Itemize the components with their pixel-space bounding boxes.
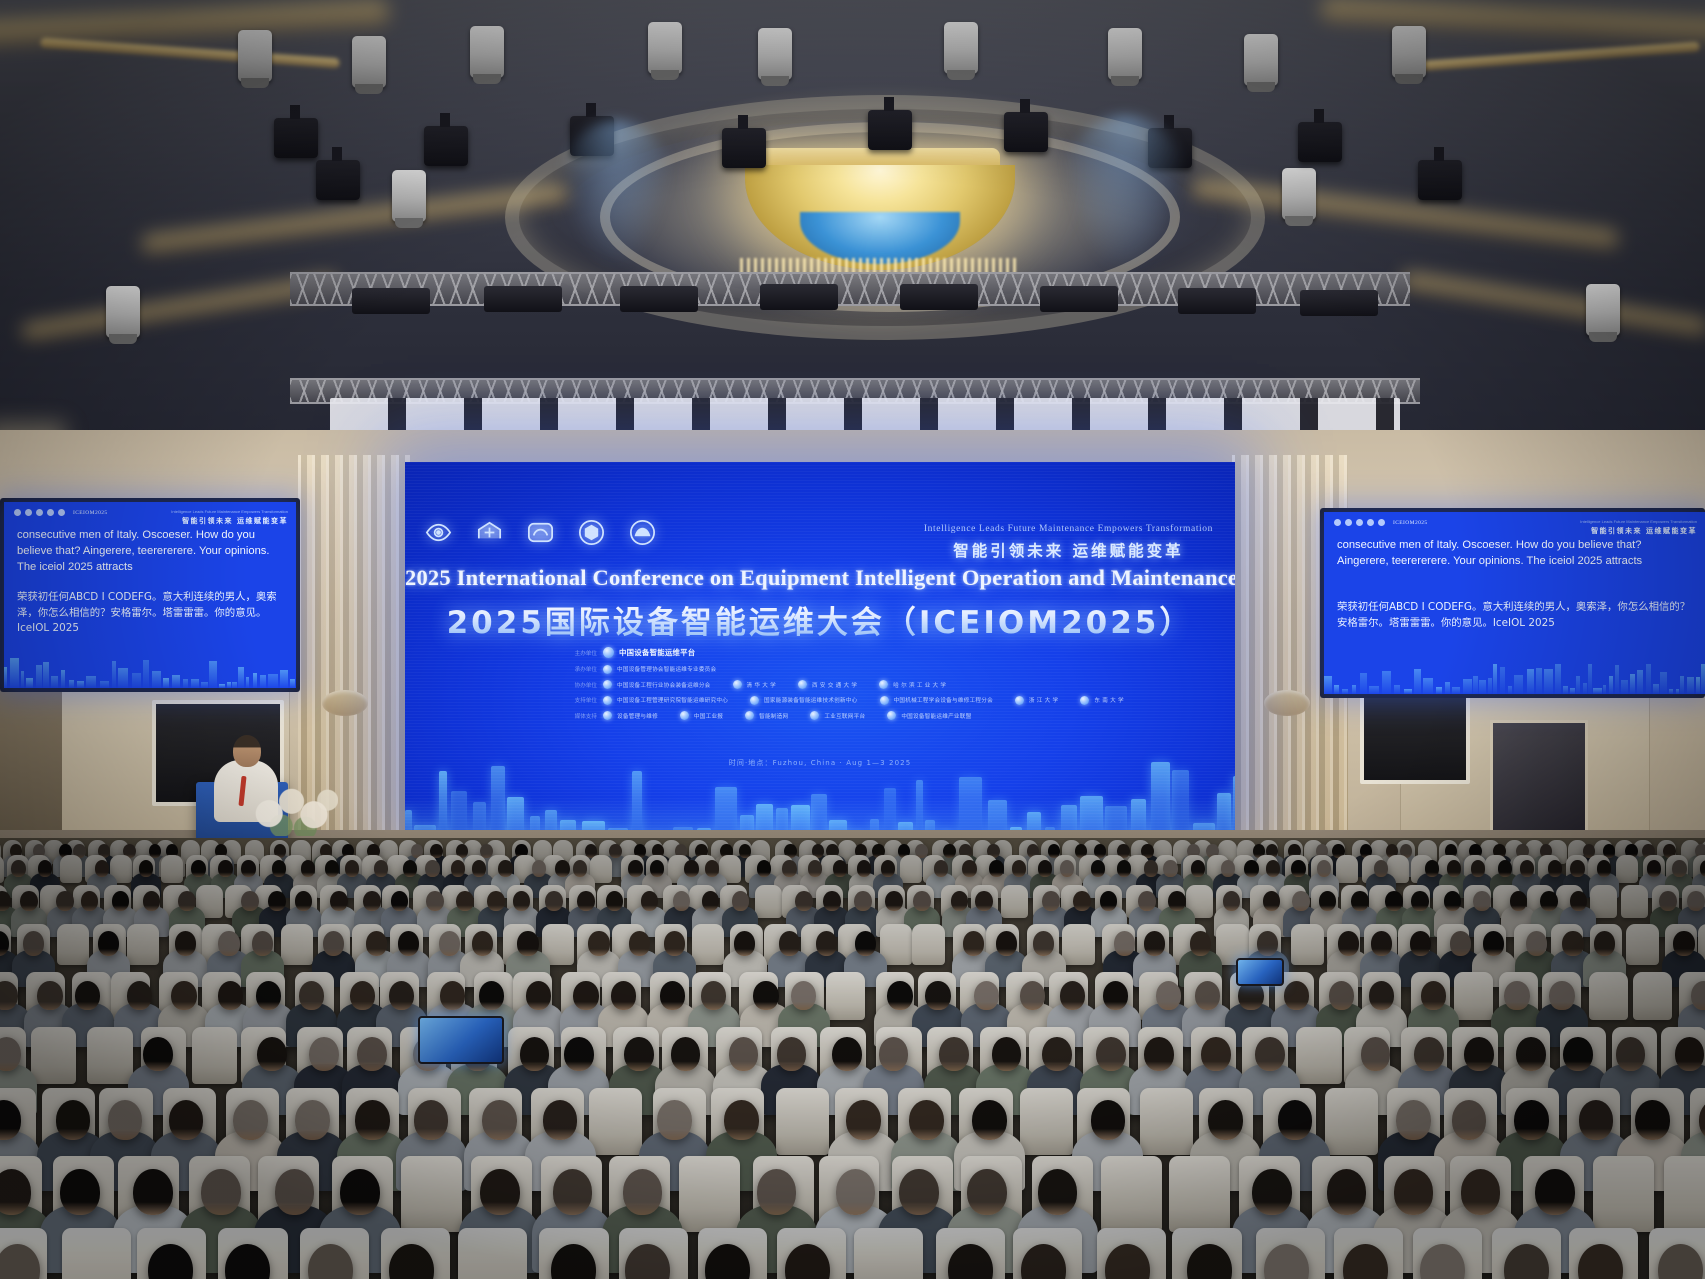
- audience-member-head: [1483, 931, 1504, 955]
- audience-member-head: [629, 931, 650, 955]
- skyline-building: [290, 679, 295, 688]
- organizer-list: 主办单位中国设备智能运维平台承办单位中国设备管理协会智能运维专业委员会协办单位中…: [525, 647, 1125, 727]
- audience-member-head: [1319, 891, 1336, 911]
- audience-member-head: [60, 1169, 100, 1215]
- side-screen-tagline: Intelligence Leads Future Maintenance Em…: [171, 509, 288, 526]
- side-screen-icons: ICEIOM2025: [1334, 519, 1428, 526]
- audience-member-head: [513, 891, 530, 911]
- skyline-building: [1414, 669, 1421, 694]
- audience-member-head: [1514, 1100, 1549, 1140]
- audience-member-head: [1535, 1169, 1575, 1215]
- ceiling-downlight: [944, 22, 978, 74]
- skyline-building: [26, 678, 33, 688]
- organizer-name: 中国设备工程管理研究院智能运维研究中心: [617, 696, 728, 704]
- ceiling-downlight: [1392, 26, 1426, 78]
- tagline-chinese: 智能引领未来 运维赋能变革: [924, 539, 1213, 561]
- skyline-building: [1588, 664, 1592, 694]
- skyline-building: [201, 682, 208, 688]
- organizer-entry: 中国设备工程管理研究院智能运维研究中心: [603, 696, 728, 705]
- audience-member-head: [143, 1037, 173, 1071]
- organizer-entry: 西 安 交 通 大 学: [798, 680, 857, 689]
- audience-member-head: [1351, 891, 1368, 911]
- audience-member-head: [1570, 891, 1587, 911]
- audience-member-head: [241, 860, 255, 877]
- audience-member-head: [1103, 981, 1128, 1010]
- audience-member-head: [75, 981, 100, 1010]
- audience-chair: [1020, 1088, 1073, 1154]
- audience-member-head: [1038, 860, 1052, 877]
- audience-member-head: [1266, 860, 1280, 877]
- audience-member-head: [398, 931, 419, 955]
- audience-member-head: [660, 981, 685, 1010]
- audience-member-head: [323, 931, 344, 955]
- skyline-building: [86, 676, 96, 688]
- cove-light: [1400, 42, 1700, 73]
- org-mark-icon: [733, 680, 742, 689]
- audience-chair: [1626, 924, 1659, 965]
- audience-member-head: [487, 891, 504, 911]
- audience-member-head: [1563, 1037, 1593, 1071]
- audience-member-head: [98, 931, 119, 955]
- audience-member-head: [233, 1100, 268, 1140]
- skyline-building: [1687, 677, 1694, 694]
- skyline-building: [1394, 685, 1400, 694]
- audience-member-head: [1144, 860, 1158, 877]
- audience-member-head: [588, 931, 609, 955]
- org-mark-icon: [887, 711, 896, 720]
- shield-cloud-icon: [1378, 519, 1385, 526]
- organizer-entry: 中国机械工程学会设备与维修工程分会: [880, 696, 993, 705]
- audience-chair: [57, 924, 90, 965]
- audience-member-head: [1371, 931, 1392, 955]
- audience-member-head: [1473, 891, 1490, 911]
- light-beam: [556, 120, 676, 270]
- audience-member-head: [272, 860, 286, 877]
- audience-member-head: [1471, 860, 1485, 877]
- organizer-entry: 中国设备管理协会智能运维专业委员会: [603, 665, 716, 674]
- audience-member-head: [974, 981, 999, 1010]
- audience-member-head: [1060, 860, 1074, 877]
- audience-member-head: [426, 891, 443, 911]
- org-mark-icon: [798, 680, 807, 689]
- skyline-building: [100, 681, 109, 688]
- audience-member-head: [1659, 891, 1676, 911]
- audience-member-head: [1073, 891, 1090, 911]
- skyline-building: [1436, 687, 1442, 694]
- audience-chair: [60, 855, 82, 883]
- left-side-screen: ICEIOM2025 Intelligence Leads Future Mai…: [4, 502, 296, 688]
- audience-member-head: [795, 891, 812, 911]
- audience-member-head: [934, 860, 948, 877]
- audience-member-head: [832, 1037, 862, 1071]
- organizer-entry: 工业互联网平台: [810, 711, 865, 720]
- organizer-category-label: 主办单位: [525, 649, 597, 657]
- side-screen-header: ICEIOM2025 Intelligence Leads Future Mai…: [14, 509, 288, 526]
- side-screen-header: ICEIOM2025 Intelligence Leads Future Mai…: [1334, 519, 1697, 536]
- skyline-building: [1653, 684, 1659, 694]
- audience-member-head: [425, 860, 439, 877]
- audience-member-head: [854, 891, 871, 911]
- audience-member-head: [1414, 1037, 1444, 1071]
- organizer-row: 支持单位中国设备工程管理研究院智能运维研究中心国家能源装备智能运维技术创新中心中…: [525, 696, 1125, 705]
- audience-member-head: [20, 891, 37, 911]
- skyline-building: [1404, 689, 1412, 694]
- audience-member-head: [1675, 1037, 1705, 1071]
- target-eye-icon: [423, 517, 454, 548]
- audience-chair: [1140, 1088, 1193, 1154]
- audience-member-head: [555, 860, 569, 877]
- audience-member-head: [37, 981, 62, 1010]
- skyline-building: [1352, 685, 1356, 694]
- audience-member-head: [403, 860, 417, 877]
- audience-chair: [458, 1228, 527, 1279]
- audience-member-head: [1038, 1169, 1078, 1215]
- audience-member-head: [472, 860, 486, 877]
- audience-member-head: [169, 1100, 204, 1140]
- skyline-building: [227, 682, 231, 688]
- side-tagline-chinese: 智能引领未来 运维赋能变革: [171, 516, 288, 526]
- cloud-data-icon: [1356, 519, 1363, 526]
- audience-member-head: [1540, 891, 1557, 911]
- audience-member-head: [143, 891, 160, 911]
- audience-member-head: [363, 891, 380, 911]
- audience-member-head: [943, 844, 955, 858]
- audience-member-head: [340, 1169, 380, 1215]
- audience-member-head: [833, 860, 847, 877]
- skyline-building: [1570, 688, 1575, 694]
- audience-member-head: [1594, 931, 1615, 955]
- skyline-building: [1479, 680, 1486, 694]
- audience-member-head: [701, 981, 726, 1010]
- left-caption-chinese: 荣获初任何ABCD I CODEFG。意大利连续的男人，奥索泽，你怎么相信的？安…: [17, 590, 285, 637]
- org-mark-icon: [680, 711, 689, 720]
- skyline-building: [1646, 664, 1651, 694]
- ceiling-downlight: [238, 30, 272, 82]
- skyline-building: [1536, 668, 1542, 694]
- conference-title-english: 2025 International Conference on Equipme…: [405, 565, 1235, 591]
- skyline-building: [1660, 672, 1667, 694]
- audience-phone-screen: [418, 1016, 504, 1064]
- audience-member-head: [1374, 860, 1388, 877]
- audience-member-head: [623, 1169, 663, 1215]
- skyline-building: [1514, 675, 1523, 694]
- skyline-building: [1493, 664, 1497, 694]
- audience-member-head: [480, 1169, 520, 1215]
- audience-member-head: [257, 1037, 287, 1071]
- audience-member-head: [967, 1169, 1007, 1215]
- audience-phone-screen: [1236, 958, 1284, 986]
- audience-member-head: [673, 891, 690, 911]
- audience-chair: [1336, 855, 1358, 883]
- stage-par-light: [1004, 112, 1048, 152]
- skyline-building: [36, 665, 42, 688]
- audience-member-head: [1394, 1169, 1434, 1215]
- hexagon-core-icon: [1367, 519, 1374, 526]
- audience-member-head: [171, 981, 196, 1010]
- audience-member-head: [611, 981, 636, 1010]
- audience-member-head: [1190, 931, 1211, 955]
- audience-member-head: [456, 891, 473, 911]
- skyline-building: [1630, 674, 1635, 694]
- audience-member-head: [345, 860, 359, 877]
- skyline-building: [1463, 679, 1472, 694]
- stage-par-light: [316, 160, 360, 200]
- floral-arrangement: [252, 780, 338, 836]
- audience-member-head: [325, 860, 339, 877]
- cove-light: [40, 38, 340, 69]
- audience-member-head: [389, 981, 414, 1010]
- audience-chair: [1633, 972, 1672, 1021]
- audience-member-head: [1597, 860, 1611, 877]
- skyline-building: [69, 680, 74, 688]
- ceiling-downlight: [648, 22, 682, 74]
- skyline-building: [1324, 676, 1332, 694]
- audience-member-head: [127, 981, 152, 1010]
- city-skyline-graphic: [405, 724, 1235, 844]
- audience-member-head: [252, 931, 273, 955]
- audience-chair: [900, 855, 922, 883]
- skyline-building: [246, 677, 249, 688]
- hexagon-core-icon: [576, 517, 607, 548]
- audience-member-head: [1672, 860, 1686, 877]
- cloud-data-icon: [525, 517, 556, 548]
- audience-member-head: [133, 1169, 173, 1215]
- gear-plus-icon: [1345, 519, 1352, 526]
- audience-member-head: [1516, 1037, 1546, 1071]
- ceiling-downlight: [106, 286, 140, 338]
- audience-chair: [1291, 924, 1324, 965]
- stage-par-light: [1418, 160, 1462, 200]
- audience-member-head: [1562, 931, 1583, 955]
- audience-member-head: [201, 1169, 241, 1215]
- shield-cloud-icon: [58, 509, 65, 516]
- skyline-building: [1508, 686, 1512, 694]
- audience-chair: [281, 924, 314, 965]
- audience-member-head: [517, 931, 538, 955]
- audience-member-head: [1138, 891, 1155, 911]
- organizer-category-label: 媒体支持: [525, 712, 597, 720]
- skyline-building: [1603, 685, 1606, 694]
- audience-member-head: [573, 860, 587, 877]
- skyline-building: [163, 678, 169, 688]
- hexagon-core-icon: [47, 509, 54, 516]
- audience-member-head: [573, 981, 598, 1010]
- conference-title-chinese: 2025国际设备智能运维大会（ICEIOM2025）: [405, 597, 1235, 642]
- audience-member-head: [885, 891, 902, 911]
- organizer-name: 中国机械工程学会设备与维修工程分会: [894, 696, 993, 704]
- side-screen-icons: ICEIOM2025: [14, 509, 108, 516]
- audience-member-head: [498, 860, 512, 877]
- audience-member-head: [724, 1100, 759, 1140]
- cove-light: [1320, 0, 1705, 43]
- audience-member-head: [1635, 1100, 1670, 1140]
- organizer-category-label: 承办单位: [525, 665, 597, 673]
- ceiling-downlight: [1108, 28, 1142, 80]
- gear-plus-icon: [25, 509, 32, 516]
- audience-member-head: [1410, 931, 1431, 955]
- skyline-building: [1615, 665, 1619, 694]
- audience-member-head: [975, 891, 992, 911]
- audience-chair: [1454, 972, 1493, 1021]
- audience-member-head: [1396, 1100, 1431, 1140]
- stage-par-light: [1298, 122, 1342, 162]
- main-led-screen: Intelligence Leads Future Maintenance Em…: [405, 462, 1235, 844]
- skyline-building: [232, 682, 237, 688]
- audience-member-head: [1338, 931, 1359, 955]
- audience-member-head: [909, 1100, 944, 1140]
- audience-member-head: [1223, 891, 1240, 911]
- audience-member-head: [451, 860, 465, 877]
- skyline-building: [152, 671, 161, 688]
- skyline-building: [219, 684, 225, 688]
- audience-member-head: [705, 860, 719, 877]
- skyline-building: [1382, 671, 1391, 694]
- organizer-entry: 浙 江 大 学: [1015, 696, 1058, 705]
- audience-member-head: [178, 891, 195, 911]
- audience-member-head: [1091, 860, 1105, 877]
- audience-member-head: [1447, 860, 1461, 877]
- audience-member-head: [1156, 981, 1181, 1010]
- organizer-entry: 清 华 大 学: [733, 680, 776, 689]
- speaker-head: [233, 735, 261, 767]
- audience-chair: [692, 924, 725, 965]
- audience-member-head: [275, 1169, 315, 1215]
- audience-chair: [589, 1088, 642, 1154]
- audience-member-head: [925, 981, 950, 1010]
- audience-member-head: [939, 1037, 969, 1071]
- audience-member-head: [11, 860, 25, 877]
- stage-wash-light: [352, 288, 430, 314]
- skyline-building: [1701, 664, 1705, 694]
- skyline-building: [1334, 685, 1339, 694]
- stage-wash-light: [620, 286, 698, 312]
- audience-member-head: [1257, 931, 1278, 955]
- audience-member-head: [472, 931, 493, 955]
- audience-member-head: [350, 981, 375, 1010]
- audience-chair: [87, 1027, 133, 1084]
- audience-member-head: [1144, 1037, 1174, 1071]
- audience-member-head: [782, 860, 796, 877]
- org-mark-icon: [603, 665, 612, 674]
- skyline-building: [1609, 676, 1613, 694]
- target-eye-icon: [1334, 519, 1341, 526]
- skyline-building: [209, 661, 217, 688]
- audience-member-head: [1292, 891, 1309, 911]
- organizer-entry: 中国设备工程行业协会装备运维分会: [603, 680, 711, 689]
- skyline-building: [4, 667, 7, 688]
- skyline-building: [1676, 689, 1679, 694]
- organizer-name: 浙 江 大 学: [1029, 696, 1058, 704]
- audience-chair: [1664, 1156, 1705, 1232]
- audience-member-head: [553, 1169, 593, 1215]
- audience-member-head: [1579, 1100, 1614, 1140]
- audience-seating: [0, 838, 1705, 1279]
- organizer-row: 协办单位中国设备工程行业协会装备运维分会清 华 大 学西 安 交 通 大 学哈 …: [525, 680, 1125, 689]
- side-screen-tagline: Intelligence Leads Future Maintenance Em…: [1580, 519, 1697, 536]
- audience-member-head: [1144, 931, 1165, 955]
- audience-member-head: [256, 981, 281, 1010]
- audience-member-head: [1096, 1037, 1126, 1071]
- audience-member-head: [440, 981, 465, 1010]
- audience-member-head: [374, 860, 388, 877]
- side-tagline-english: Intelligence Leads Future Maintenance Em…: [171, 509, 288, 514]
- audience-member-head: [1444, 891, 1461, 911]
- target-eye-icon: [14, 509, 21, 516]
- audience-member-head: [1329, 981, 1354, 1010]
- audience-member-head: [1452, 1100, 1487, 1140]
- audience-member-head: [23, 931, 44, 955]
- audience-chair: [192, 1027, 238, 1084]
- stage-par-light: [274, 118, 318, 158]
- audience-chair: [401, 1156, 462, 1232]
- side-skyline-graphic: [4, 652, 296, 688]
- audience-member-head: [1114, 931, 1135, 955]
- audience-chair: [1325, 1088, 1378, 1154]
- audience-member-head: [753, 981, 778, 1010]
- organizer-name: 工业互联网平台: [824, 712, 865, 720]
- ceiling-downlight: [758, 28, 792, 80]
- audience-member-head: [899, 1169, 939, 1215]
- audience-member-head: [1255, 1037, 1285, 1071]
- audience-chair: [1616, 855, 1638, 883]
- audience-member-head: [846, 1100, 881, 1140]
- organizer-name: 哈 尔 滨 工 业 大 学: [893, 681, 946, 689]
- wall-speaker-grille: [1360, 690, 1470, 784]
- audience-chair: [854, 1228, 923, 1279]
- audience-member-head: [218, 860, 232, 877]
- audience-member-head: [606, 891, 623, 911]
- audience-chair: [826, 972, 865, 1021]
- audience-member-head: [913, 891, 930, 911]
- audience-member-head: [1673, 931, 1694, 955]
- audience-member-head: [779, 931, 800, 955]
- audience-member-head: [757, 1169, 797, 1215]
- skyline-building: [61, 670, 65, 688]
- stage-par-light: [424, 126, 468, 166]
- audience-member-head: [526, 981, 551, 1010]
- audience-member-head: [1163, 860, 1177, 877]
- audience-member-head: [1168, 891, 1185, 911]
- audience-chair: [62, 1228, 131, 1279]
- audience-member-head: [1244, 860, 1258, 877]
- ceiling-downlight: [1586, 284, 1620, 336]
- stage-wash-light: [1300, 290, 1378, 316]
- org-mark-icon: [1015, 696, 1024, 705]
- audience-member-head: [1091, 1100, 1126, 1140]
- tagline-english: Intelligence Leads Future Maintenance Em…: [924, 524, 1213, 534]
- skyline-building: [1473, 676, 1478, 694]
- audience-chair: [1169, 1156, 1230, 1232]
- skyline-building: [253, 673, 257, 688]
- audience-member-head: [836, 1169, 876, 1215]
- audience-member-head: [56, 891, 73, 911]
- screen-tagline: Intelligence Leads Future Maintenance Em…: [924, 524, 1213, 561]
- audience-member-head: [1464, 1037, 1494, 1071]
- skyline-building: [1669, 689, 1673, 694]
- audience-chair: [161, 855, 183, 883]
- shield-cloud-icon: [627, 517, 658, 548]
- audience-member-head: [295, 1100, 330, 1140]
- audience-member-head: [1411, 891, 1428, 911]
- audience-member-head: [1425, 860, 1439, 877]
- organizer-name: 中国设备智能运维产业联盟: [901, 712, 971, 720]
- stage-wash-light: [900, 284, 978, 310]
- skyline-building: [132, 673, 141, 688]
- ceiling-downlight: [392, 170, 426, 222]
- organizer-name: 清 华 大 学: [747, 681, 776, 689]
- audience-member-head: [823, 891, 840, 911]
- audience-member-head: [391, 891, 408, 911]
